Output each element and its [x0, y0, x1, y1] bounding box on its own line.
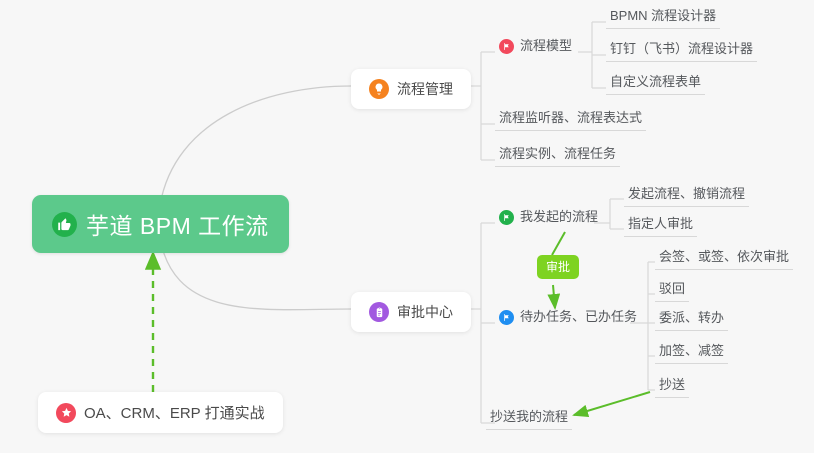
- node-start-cancel-process[interactable]: 发起流程、撤销流程: [624, 186, 749, 207]
- flag-icon: [499, 310, 514, 325]
- node-label: 流程监听器、流程表达式: [499, 110, 642, 126]
- node-process-model[interactable]: 流程模型: [495, 38, 576, 58]
- node-label: 自定义流程表单: [610, 74, 701, 90]
- node-label: 钉钉（飞书）流程设计器: [610, 41, 753, 57]
- callout-arrow-cc: [574, 392, 650, 415]
- flag-icon: [499, 39, 514, 54]
- node-custom-form[interactable]: 自定义流程表单: [606, 74, 705, 95]
- node-reject[interactable]: 驳回: [655, 281, 689, 302]
- link-root-to-process-management: [160, 86, 351, 205]
- annotation-tag-approval[interactable]: 审批: [537, 255, 579, 279]
- flag-icon: [499, 210, 514, 225]
- clipboard-icon: [369, 302, 389, 322]
- node-label: 流程模型: [520, 38, 572, 54]
- node-label: 我发起的流程: [520, 209, 598, 225]
- node-cc-to-me[interactable]: 抄送我的流程: [486, 409, 572, 430]
- node-bpmn-designer[interactable]: BPMN 流程设计器: [606, 8, 720, 29]
- branch-node-label: 流程管理: [397, 79, 453, 99]
- node-todo-done-task[interactable]: 待办任务、已办任务: [495, 309, 641, 329]
- node-label: 抄送我的流程: [490, 409, 568, 425]
- node-label: 待办任务、已办任务: [520, 309, 637, 325]
- root-node-label: 芋道 BPM 工作流: [86, 207, 269, 241]
- root-node[interactable]: 芋道 BPM 工作流: [32, 195, 289, 253]
- annotation-arrow-approval-bottom: [553, 285, 555, 308]
- star-icon: [56, 403, 76, 423]
- annotation-tag-label: 审批: [546, 260, 570, 274]
- lightbulb-icon: [369, 79, 389, 99]
- node-my-initiated[interactable]: 我发起的流程: [495, 209, 602, 229]
- node-label: 抄送: [659, 377, 685, 393]
- node-label: 发起流程、撤销流程: [628, 186, 745, 202]
- annotation-arrow-approval-top: [552, 232, 565, 255]
- node-label: 流程实例、流程任务: [499, 146, 616, 162]
- branch-node-process-management[interactable]: 流程管理: [351, 69, 471, 109]
- node-multi-approval[interactable]: 会签、或签、依次审批: [655, 249, 793, 270]
- node-add-remove-sign[interactable]: 加签、减签: [655, 343, 728, 364]
- node-label: 指定人审批: [628, 216, 693, 232]
- node-label: 委派、转办: [659, 310, 724, 326]
- branch-node-label: 审批中心: [397, 302, 453, 322]
- node-dingtalk-feishu-designer[interactable]: 钉钉（飞书）流程设计器: [606, 41, 757, 62]
- callout-node-integration[interactable]: OA、CRM、ERP 打通实战: [38, 392, 283, 433]
- node-label: BPMN 流程设计器: [610, 8, 716, 24]
- node-instance-task[interactable]: 流程实例、流程任务: [495, 146, 620, 167]
- node-listener-expression[interactable]: 流程监听器、流程表达式: [495, 110, 646, 131]
- branch-node-approval-center[interactable]: 审批中心: [351, 292, 471, 332]
- node-assigned-approver[interactable]: 指定人审批: [624, 216, 697, 237]
- node-label: 加签、减签: [659, 343, 724, 359]
- node-delegate-transfer[interactable]: 委派、转办: [655, 310, 728, 331]
- callout-node-label: OA、CRM、ERP 打通实战: [84, 402, 265, 423]
- link-process-model-children: [578, 22, 606, 88]
- node-label: 驳回: [659, 281, 685, 297]
- mindmap-canvas: 芋道 BPM 工作流 流程管理 流程模型 BPMN 流程设计器 钉钉（飞书）流程…: [0, 0, 814, 453]
- thumbs-up-icon: [52, 212, 77, 237]
- node-cc[interactable]: 抄送: [655, 377, 689, 398]
- node-label: 会签、或签、依次审批: [659, 249, 789, 265]
